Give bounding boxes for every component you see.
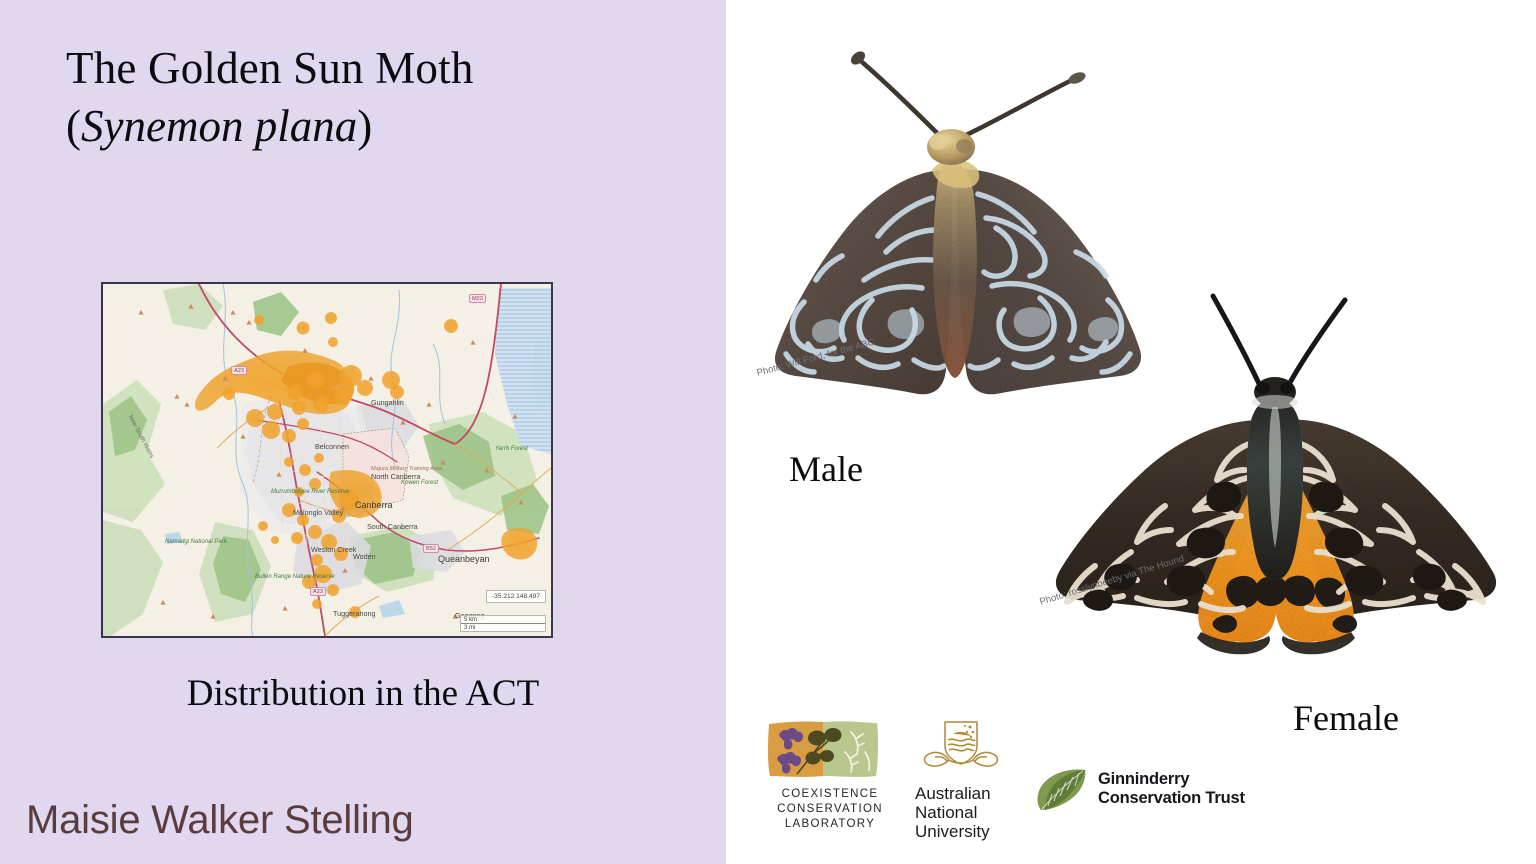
logo-strip: COEXISTENCE CONSERVATION LABORATORY (765, 718, 1265, 854)
coexistence-logo-text: COEXISTENCE CONSERVATION LABORATORY (765, 787, 895, 833)
title-paren-open: ( (66, 101, 81, 151)
scale-imperial: 3 mi (461, 624, 545, 631)
scale-metric: 5 km (461, 616, 545, 624)
gct-logo-text: Ginninderry Conservation Trust (1098, 770, 1245, 808)
map-scale-bar: 5 km 3 mi (460, 615, 546, 632)
page-title: The Golden Sun Moth (Synemon plana) (66, 40, 686, 155)
road-shield: A23 (310, 587, 326, 596)
left-panel: The Golden Sun Moth (Synemon plana) (0, 0, 726, 864)
map-canvas (103, 284, 551, 636)
ccl-line-1: COEXISTENCE (765, 787, 895, 802)
female-moth-photo (1035, 280, 1515, 680)
title-binomial: Synemon plana (81, 101, 357, 151)
road-shield: A23 (231, 366, 247, 375)
logo-coexistence-conservation-laboratory: COEXISTENCE CONSERVATION LABORATORY (765, 718, 895, 833)
distribution-map[interactable]: GungahlinBelconnenNorth CanberraCanberra… (101, 282, 553, 638)
anu-line-1: Australian (915, 784, 1035, 803)
ccl-line-2: CONSERVATION (765, 802, 895, 817)
anu-line-2: National (915, 803, 1035, 822)
logo-ginninderry-conservation-trust: Ginninderry Conservation Trust (1035, 766, 1265, 812)
leaf-icon (1035, 766, 1089, 812)
title-scientific-name: (Synemon plana) (66, 98, 686, 156)
road-shield: B52 (423, 544, 439, 553)
anu-logo-text: Australian National University (915, 784, 1035, 841)
title-paren-close: ) (357, 101, 372, 151)
male-label: Male (789, 448, 863, 490)
gct-line-2: Conservation Trust (1098, 789, 1245, 808)
author-name: Maisie Walker Stelling (26, 798, 414, 843)
anu-line-3: University (915, 822, 1035, 841)
slide-root: The Golden Sun Moth (Synemon plana) (0, 0, 1536, 864)
map-caption: Distribution in the ACT (0, 672, 726, 715)
map-coordinates: -35.212 148.497 (486, 590, 546, 603)
title-common-name: The Golden Sun Moth (66, 40, 686, 98)
logo-australian-national-university: Australian National University (915, 716, 1035, 841)
ccl-line-3: LABORATORY (765, 817, 895, 832)
anu-crest-icon (915, 716, 1007, 778)
gct-line-1: Ginninderry (1098, 770, 1245, 789)
female-label: Female (1293, 697, 1399, 739)
coexistence-tile-icon (765, 718, 881, 780)
road-shield: M23 (469, 294, 486, 303)
